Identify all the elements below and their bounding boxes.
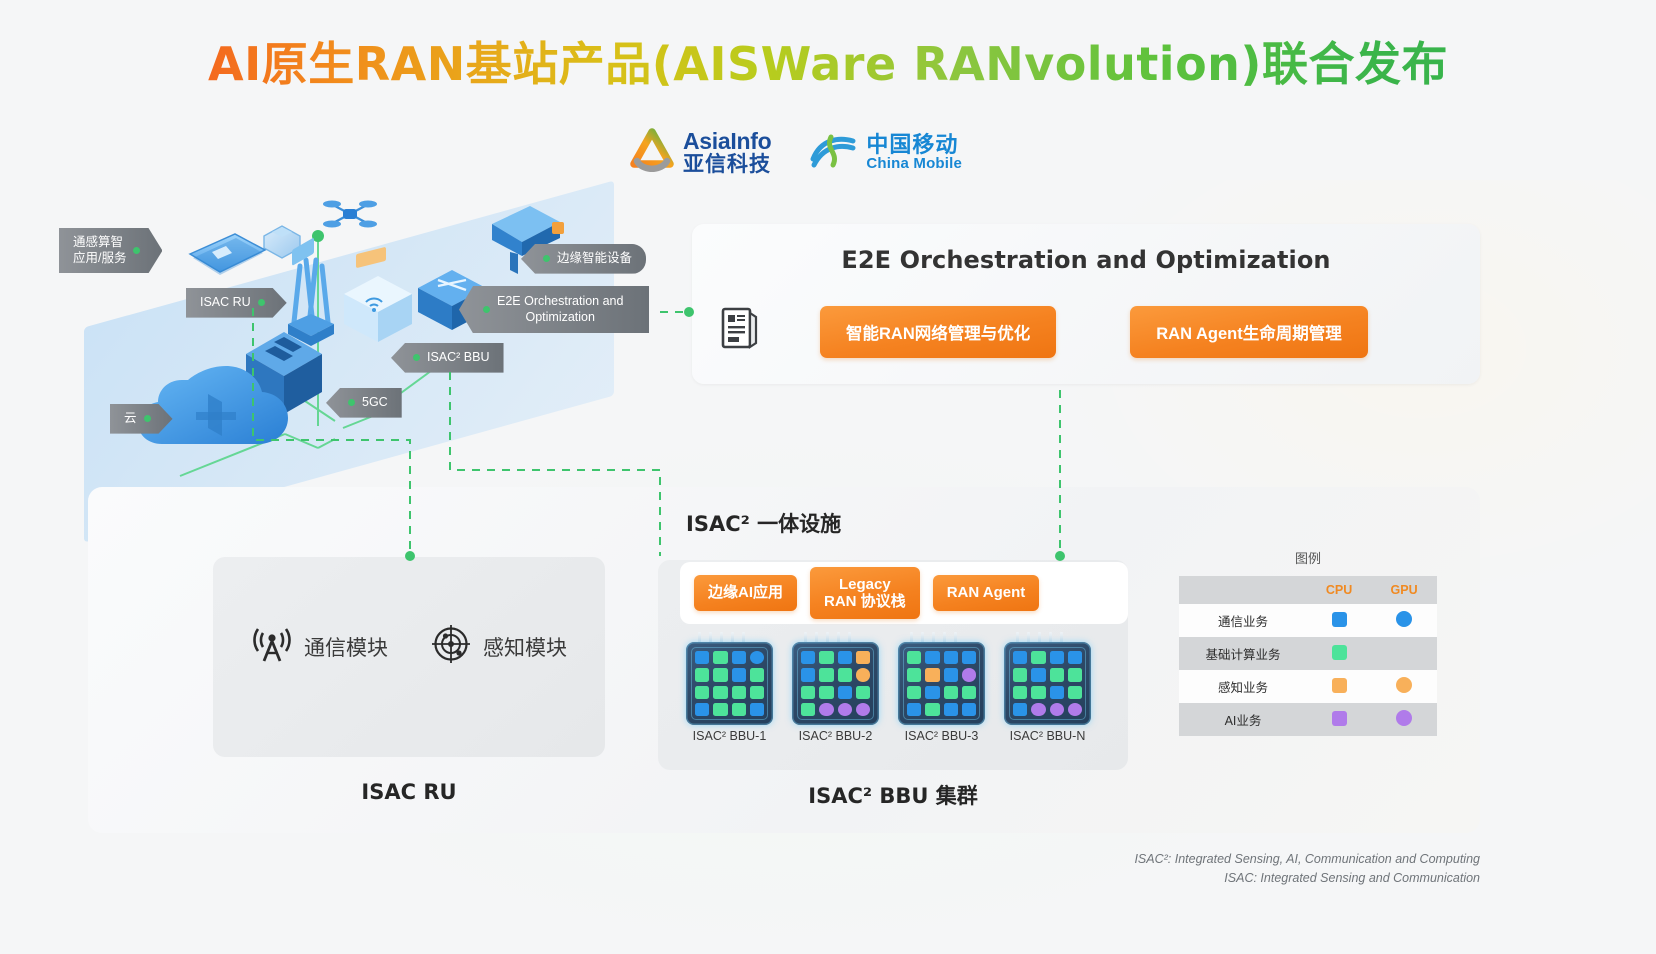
tag-dot-icon [133, 247, 140, 254]
chip-cell-green [1031, 686, 1045, 699]
isac-bbu-cube-icon [344, 247, 412, 342]
tag-dot-icon [348, 399, 355, 406]
chip-cell-green [838, 668, 852, 681]
page-title: AI原生RAN基站产品(AISWare RANvolution)联合发布 [0, 28, 1656, 94]
tag-app-service[interactable]: 通感算智 应用/服务 [59, 228, 162, 273]
chip-cell-purple [1050, 703, 1064, 716]
pill-edge-ai-app-label: 边缘AI应用 [708, 584, 783, 601]
chip-cell-purple [1068, 703, 1082, 716]
button-intelligent-ran-management[interactable]: 智能RAN网络管理与优化 [820, 306, 1056, 358]
chip-cell-green [750, 668, 764, 681]
tag-isac-ru-label: ISAC RU [200, 295, 251, 311]
chip-cell-green [695, 668, 709, 681]
e2e-button-row: 智能RAN网络管理与优化 RAN Agent生命周期管理 [820, 306, 1368, 358]
chip-cell-blue [732, 668, 746, 681]
legend-row: 通信业务 [1179, 604, 1437, 637]
tag-5gc[interactable]: 5GC [326, 388, 402, 418]
logo-china-mobile: 中国移动 China Mobile [809, 129, 962, 176]
legend-row-label: 基础计算业务 [1179, 637, 1307, 670]
chip-body [1004, 642, 1091, 725]
tag-dot-icon [543, 255, 550, 262]
tag-app-service-line1: 通感算智 [73, 235, 126, 251]
legend-row-label: 感知业务 [1179, 670, 1307, 703]
pill-legacy-line1: Legacy [839, 576, 891, 593]
chip-cell-green [695, 686, 709, 699]
chip-cell-purple [1031, 703, 1045, 716]
chip-cell-blue [944, 668, 958, 681]
chip-cell-blue [907, 703, 921, 716]
pill-legacy-line2: RAN 协议栈 [824, 593, 906, 610]
tag-isac2-bbu-label: ISAC² BBU [427, 350, 490, 366]
tag-app-service-line2: 应用/服务 [73, 251, 126, 267]
logo-asiainfo: AsiaInfo 亚信科技 [630, 128, 771, 177]
legend-gpu-cell [1371, 670, 1437, 703]
chip-cell-purple [819, 703, 833, 716]
legend-cpu-cell [1307, 604, 1371, 637]
chip-cell-green [856, 686, 870, 699]
e2e-orchestration-panel: E2E Orchestration and Optimization 智能RAN… [692, 224, 1480, 384]
legend-swatch-blue [1332, 612, 1347, 627]
chip-cell-blue [925, 686, 939, 699]
legend-row-label: AI业务 [1179, 703, 1307, 736]
legend-swatch-purple [1396, 710, 1412, 726]
legend-title: 图例 [1172, 548, 1444, 567]
legend-cpu-cell [1307, 670, 1371, 703]
chip-cell-green [801, 686, 815, 699]
chip-cell-blue [1013, 703, 1027, 716]
chip-cell-orange [856, 651, 870, 664]
asiainfo-name-cn: 亚信科技 [683, 154, 771, 176]
chip-cell-green [713, 703, 727, 716]
chip-cell-blue [750, 703, 764, 716]
chip-cell-blue [732, 651, 746, 664]
chip-cell-green [962, 686, 976, 699]
tag-dot-icon [144, 415, 151, 422]
pill-legacy-ran-stack[interactable]: Legacy RAN 协议栈 [810, 567, 920, 620]
bbu-chip[interactable]: ISAC² BBU-1 [686, 632, 773, 725]
chip-cell-green [713, 668, 727, 681]
drone-icon [323, 201, 377, 228]
chip-cell-grid [907, 651, 976, 716]
bbu-chip-label: ISAC² BBU-3 [890, 729, 993, 743]
chip-body [792, 642, 879, 725]
chip-cell-green [1031, 651, 1045, 664]
logo-row: AsiaInfo 亚信科技 中国移动 China Mobile [630, 128, 962, 177]
chip-cell-green [819, 686, 833, 699]
tag-dot-icon [413, 354, 420, 361]
chip-cell-green [819, 668, 833, 681]
legend-row: 感知业务 [1179, 670, 1437, 703]
tag-5gc-label: 5GC [362, 395, 388, 411]
module-sensing-label: 感知模块 [483, 632, 567, 662]
legend-header-blank [1179, 576, 1307, 604]
legend-header-gpu: GPU [1371, 576, 1437, 604]
legend: 图例 CPU GPU 通信业务基础计算业务感知业务AI业务 [1172, 548, 1444, 736]
legend-row-label: 通信业务 [1179, 604, 1307, 637]
chip-cell-blue [1050, 686, 1064, 699]
chip-cell-purple [856, 703, 870, 716]
chip-cell-green [819, 651, 833, 664]
chip-cell-grid [695, 651, 764, 716]
isac-ru-caption: ISAC RU [213, 780, 605, 804]
chip-cell-blue [695, 703, 709, 716]
chip-cell-green [732, 686, 746, 699]
chip-cell-blue [944, 703, 958, 716]
chip-cell-grid [1013, 651, 1082, 716]
chip-cell-green [713, 651, 727, 664]
tag-isac-ru[interactable]: ISAC RU [186, 288, 287, 318]
isac-ru-box: 通信模块 感知模块 [213, 557, 605, 757]
chip-cell-blue [1050, 651, 1064, 664]
bbu-chip[interactable]: ISAC² BBU-3 [898, 632, 985, 725]
pill-edge-ai-app[interactable]: 边缘AI应用 [694, 575, 797, 610]
chip-cell-blue [1031, 668, 1045, 681]
legend-table: CPU GPU 通信业务基础计算业务感知业务AI业务 [1179, 576, 1437, 736]
tag-dot-icon [258, 299, 265, 306]
chip-cell-green [907, 686, 921, 699]
chip-cell-blue [801, 651, 815, 664]
module-communication: 通信模块 [251, 623, 388, 670]
tag-e2e-line1: E2E Orchestration and [497, 294, 623, 310]
legend-header-row: CPU GPU [1179, 576, 1437, 604]
chip-cell-green [1013, 668, 1027, 681]
legend-cpu-cell [1307, 637, 1371, 670]
chip-body [898, 642, 985, 725]
china-mobile-wordmark: 中国移动 China Mobile [866, 133, 962, 172]
chip-cell-blue [695, 651, 709, 664]
chip-cell-blue [838, 651, 852, 664]
chip-cell-green [925, 703, 939, 716]
pill-ran-agent[interactable]: RAN Agent [933, 575, 1040, 610]
button-ran-agent-lifecycle[interactable]: RAN Agent生命周期管理 [1130, 306, 1367, 358]
asiainfo-mark-icon [630, 128, 674, 177]
e2e-panel-title: E2E Orchestration and Optimization [692, 246, 1480, 274]
chip-cell-blue [1013, 651, 1027, 664]
chip-cell-green [944, 686, 958, 699]
footnote-isac: ISAC: Integrated Sensing and Communicati… [1134, 869, 1480, 888]
chip-cell-orange [925, 668, 939, 681]
facility-pill-row: 边缘AI应用 Legacy RAN 协议栈 RAN Agent [680, 562, 1128, 624]
tag-dot-icon [483, 306, 490, 313]
chip-cell-blue [944, 651, 958, 664]
china-mobile-mark-icon [809, 129, 857, 176]
chip-cell-green [1013, 686, 1027, 699]
bbu-cluster-caption: ISAC² BBU 集群 [658, 780, 1128, 810]
chip-cell-green [907, 668, 921, 681]
legend-row: 基础计算业务 [1179, 637, 1437, 670]
chip-cell-green [713, 686, 727, 699]
footnotes: ISAC²: Integrated Sensing, AI, Communica… [1134, 850, 1480, 889]
chip-cell-green [732, 703, 746, 716]
document-icon [720, 306, 760, 355]
legend-swatch-purple [1332, 711, 1347, 726]
chip-cell-grid [801, 651, 870, 716]
bbu-chip-label: ISAC² BBU-1 [678, 729, 781, 743]
chip-cell-purple [838, 703, 852, 716]
tablet-icon [190, 234, 265, 275]
asiainfo-wordmark: AsiaInfo 亚信科技 [683, 129, 771, 175]
chip-cell-green [1050, 668, 1064, 681]
chip-cell-green [750, 686, 764, 699]
tag-cloud-label: 云 [124, 411, 137, 427]
chip-cell-blue [838, 686, 852, 699]
module-sensing: 感知模块 [430, 623, 567, 670]
tag-edge-device-label: 边缘智能设备 [557, 251, 632, 267]
tag-edge-device[interactable]: 边缘智能设备 [521, 244, 646, 274]
radar-icon [430, 623, 472, 670]
legend-swatch-orange [1332, 678, 1347, 693]
chip-cell-green [801, 703, 815, 716]
antenna-icon [251, 623, 293, 670]
chip-cell-green [907, 651, 921, 664]
china-mobile-name-en: China Mobile [866, 156, 962, 172]
legend-gpu-cell [1371, 604, 1437, 637]
legend-swatch-orange [1396, 677, 1412, 693]
chip-cell-blue [962, 703, 976, 716]
legend-swatch-blue [1396, 611, 1412, 627]
legend-gpu-cell [1371, 637, 1437, 670]
facility-title: ISAC² 一体设施 [686, 508, 841, 538]
china-mobile-name-cn: 中国移动 [866, 133, 962, 156]
antenna-tower-icon [288, 260, 334, 346]
isometric-network-scene: 通感算智 应用/服务 ISAC RU 边缘智能设备 E2E Orchestrat… [60, 196, 710, 486]
bbu-chip-row: ISAC² BBU-1ISAC² BBU-2ISAC² BBU-3ISAC² B… [686, 632, 1091, 725]
chip-cell-purple [962, 668, 976, 681]
tag-e2e-orchestration[interactable]: E2E Orchestration and Optimization [459, 286, 649, 333]
legend-gpu-cell [1371, 703, 1437, 736]
bbu-chip-label: ISAC² BBU-N [996, 729, 1099, 743]
chip-cell-green [1068, 686, 1082, 699]
tag-isac2-bbu[interactable]: ISAC² BBU [391, 343, 504, 373]
asiainfo-name-en: AsiaInfo [683, 129, 771, 153]
pill-ran-agent-label: RAN Agent [947, 584, 1026, 601]
ru-module-row: 通信模块 感知模块 [213, 623, 605, 670]
tag-e2e-line2: Optimization [497, 310, 623, 326]
chip-cell-blue [1068, 651, 1082, 664]
chip-cell-blue [801, 668, 815, 681]
chip-cell-blue [925, 651, 939, 664]
chip-cell-orange [856, 668, 870, 681]
chip-body [686, 642, 773, 725]
legend-row: AI业务 [1179, 703, 1437, 736]
legend-header-cpu: CPU [1307, 576, 1371, 604]
bbu-chip-label: ISAC² BBU-2 [784, 729, 887, 743]
chip-cell-blue [962, 651, 976, 664]
chip-cell-blue [750, 651, 764, 664]
module-communication-label: 通信模块 [304, 632, 388, 662]
scene-artwork [60, 196, 710, 486]
legend-cpu-cell [1307, 703, 1371, 736]
chip-cell-green [1068, 668, 1082, 681]
legend-swatch-green [1332, 645, 1347, 660]
bbu-chip[interactable]: ISAC² BBU-N [1004, 632, 1091, 725]
bbu-chip[interactable]: ISAC² BBU-2 [792, 632, 879, 725]
footnote-isac2: ISAC²: Integrated Sensing, AI, Communica… [1134, 850, 1480, 869]
